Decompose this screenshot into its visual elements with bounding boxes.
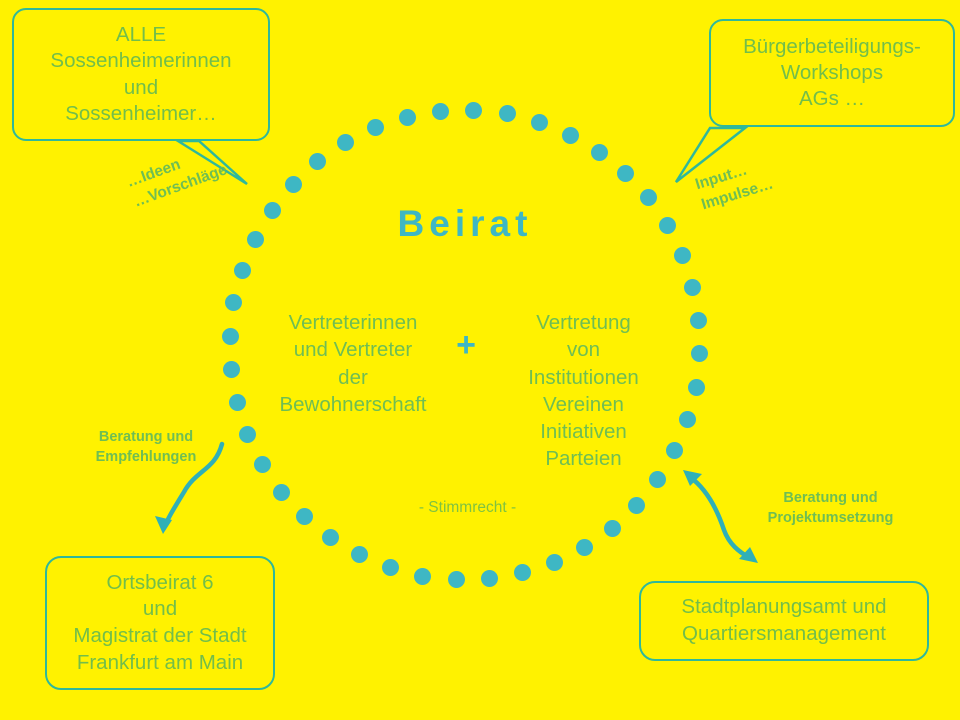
ring-dot	[239, 426, 256, 443]
ring-dot	[414, 568, 431, 585]
ring-dot	[465, 102, 482, 119]
ring-dot	[691, 345, 708, 362]
ring-dot	[591, 144, 608, 161]
ring-dot	[448, 571, 465, 588]
ring-dot	[617, 165, 634, 182]
ring-dot	[234, 262, 251, 279]
box-ortsbeirat-magistrat: Ortsbeirat 6 und Magistrat der Stadt Fra…	[45, 556, 275, 690]
box-stadtplanungsamt-quartiersmanagement-text: Stadtplanungsamt und Quartiersmanagement	[641, 594, 927, 647]
ring-dot	[546, 554, 563, 571]
ring-dot	[640, 189, 657, 206]
ring-dot	[628, 497, 645, 514]
ring-dot	[337, 134, 354, 151]
ring-dot	[225, 294, 242, 311]
ring-dot	[296, 508, 313, 525]
ring-dot	[688, 379, 705, 396]
speech-bubble-workshops-text: Bürgerbeteiligungs- Workshops AGs …	[711, 34, 953, 113]
page-title: Beirat	[330, 203, 600, 245]
ring-dot	[273, 484, 290, 501]
label-advice-project-implementation: Beratung und Projektumsetzung	[748, 488, 913, 528]
ring-dot	[659, 217, 676, 234]
voting-rights-note: - Stimmrecht -	[375, 499, 560, 517]
ring-dot	[562, 127, 579, 144]
ring-dot	[674, 247, 691, 264]
ring-dot	[576, 539, 593, 556]
ring-dot	[679, 411, 696, 428]
ring-dot	[531, 114, 548, 131]
label-advice-recommendations: Beratung und Empfehlungen	[76, 427, 216, 467]
ring-dot	[223, 361, 240, 378]
ring-dot	[432, 103, 449, 120]
ring-dot	[254, 456, 271, 473]
speech-bubble-citizens: ALLE Sossenheimerinnen und Sossenheimer…	[12, 8, 270, 141]
ring-dot	[481, 570, 498, 587]
ring-dot	[514, 564, 531, 581]
ring-dot	[499, 105, 516, 122]
speech-bubble-citizens-text: ALLE Sossenheimerinnen und Sossenheimer…	[14, 22, 268, 127]
ring-dot	[399, 109, 416, 126]
ring-dot	[649, 471, 666, 488]
members-residents-column: Vertreterinnen und Vertreter der Bewohne…	[268, 309, 438, 418]
ring-dot	[604, 520, 621, 537]
ring-dot	[309, 153, 326, 170]
ring-dot	[247, 231, 264, 248]
diagram-canvas: Beirat Vertreterinnen und Vertreter der …	[0, 0, 960, 720]
plus-icon: +	[448, 328, 484, 362]
speech-bubble-workshops: Bürgerbeteiligungs- Workshops AGs …	[709, 19, 955, 127]
members-institutions-column: Vertretung von Institutionen Vereinen In…	[496, 309, 671, 473]
ring-dot	[367, 119, 384, 136]
ring-dot	[322, 529, 339, 546]
ring-dot	[222, 328, 239, 345]
ring-dot	[382, 559, 399, 576]
ring-dot	[264, 202, 281, 219]
ring-dot	[684, 279, 701, 296]
box-ortsbeirat-magistrat-text: Ortsbeirat 6 und Magistrat der Stadt Fra…	[47, 570, 273, 677]
ring-dot	[229, 394, 246, 411]
ring-dot	[285, 176, 302, 193]
ring-dot	[690, 312, 707, 329]
ring-dot	[351, 546, 368, 563]
box-stadtplanungsamt-quartiersmanagement: Stadtplanungsamt und Quartiersmanagement	[639, 581, 929, 661]
